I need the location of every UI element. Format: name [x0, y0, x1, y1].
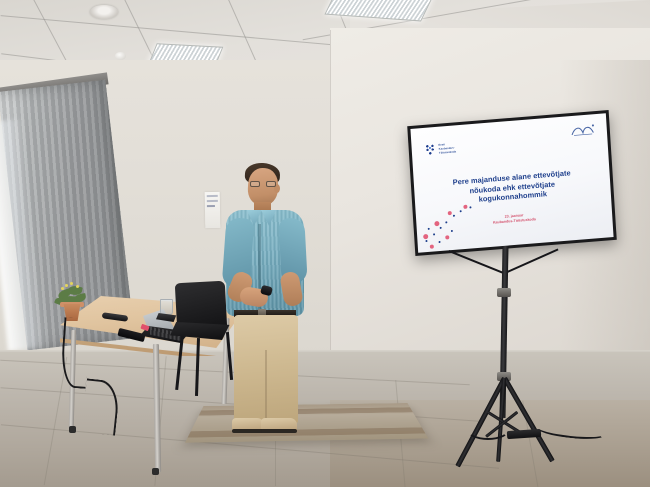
floor-cable-loop [466, 418, 510, 440]
tv-display-slide: Eesti Kaubandus- Tööstuskoda Pere majand… [410, 113, 613, 252]
flat-screen-tv[interactable]: Eesti Kaubandus- Tööstuskoda Pere majand… [407, 110, 617, 256]
glasses-icon [250, 181, 278, 188]
chamber-logo-icon [424, 143, 436, 156]
photo-scene: Eesti Kaubandus- Tööstuskoda Pere majand… [0, 0, 650, 487]
smoke-detector-icon [115, 52, 126, 60]
anniversary-mark-icon [569, 122, 596, 138]
drinking-glass [160, 299, 173, 315]
presenter [214, 160, 324, 450]
trouser-seam [265, 350, 267, 422]
ceiling-downlight-icon [90, 5, 118, 19]
tripod-height-collar[interactable] [497, 288, 511, 297]
slide-decorative-dots [417, 198, 498, 252]
slide-organization-logo: Eesti Kaubandus- Tööstuskoda [424, 141, 456, 155]
logo-line-3: Tööstuskoda [439, 150, 456, 154]
